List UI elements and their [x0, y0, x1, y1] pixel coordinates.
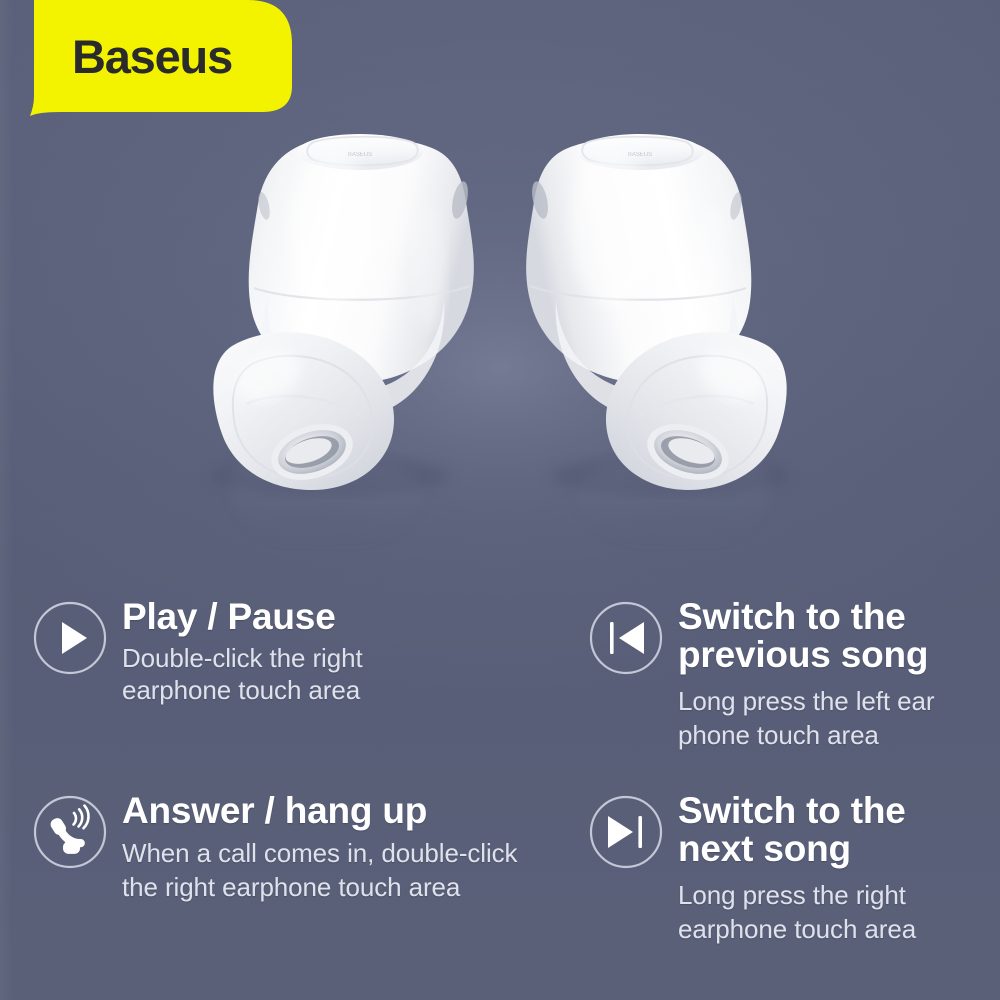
feature-previous-song-body: Switch to the previous song Long press t…: [678, 596, 988, 753]
feature-subtitle: Double-click the right earphone touch ar…: [122, 643, 562, 705]
feature-subtitle: When a call comes in, double-click the r…: [122, 837, 592, 904]
play-icon[interactable]: [32, 600, 108, 676]
feature-answer-hangup[interactable]: Answer / hang up When a call comes in, d…: [32, 790, 592, 904]
feature-title: Play / Pause: [122, 598, 562, 636]
earbud-right: BASEUS: [526, 134, 790, 548]
svg-text:BASEUS: BASEUS: [628, 152, 652, 158]
product-image-earbuds: BASEUS BASEUS: [0, 118, 1000, 578]
phone-call-icon[interactable]: [32, 794, 108, 870]
feature-list: Play / Pause Double-click the right earp…: [0, 578, 1000, 1000]
feature-subtitle: Long press the left ear phone touch area: [678, 685, 988, 753]
feature-play-pause-body: Play / Pause Double-click the right earp…: [122, 596, 562, 706]
brand-logo-text: Baseus: [72, 33, 232, 80]
feature-subtitle: Long press the right earphone touch area: [678, 879, 988, 947]
feature-previous-song[interactable]: Switch to the previous song Long press t…: [588, 596, 988, 753]
feature-title: Switch to the previous song: [678, 598, 988, 675]
next-track-icon[interactable]: [588, 794, 664, 870]
feature-title: Answer / hang up: [122, 792, 592, 830]
previous-track-icon[interactable]: [588, 600, 664, 676]
feature-title: Switch to the next song: [678, 792, 988, 869]
earbud-left: BASEUS: [210, 134, 474, 548]
feature-answer-hangup-body: Answer / hang up When a call comes in, d…: [122, 790, 592, 904]
svg-text:BASEUS: BASEUS: [348, 152, 372, 158]
feature-next-song[interactable]: Switch to the next song Long press the r…: [588, 790, 988, 947]
feature-next-song-body: Switch to the next song Long press the r…: [678, 790, 988, 947]
feature-play-pause[interactable]: Play / Pause Double-click the right earp…: [32, 596, 562, 706]
brand-logo: Baseus: [0, 0, 292, 116]
